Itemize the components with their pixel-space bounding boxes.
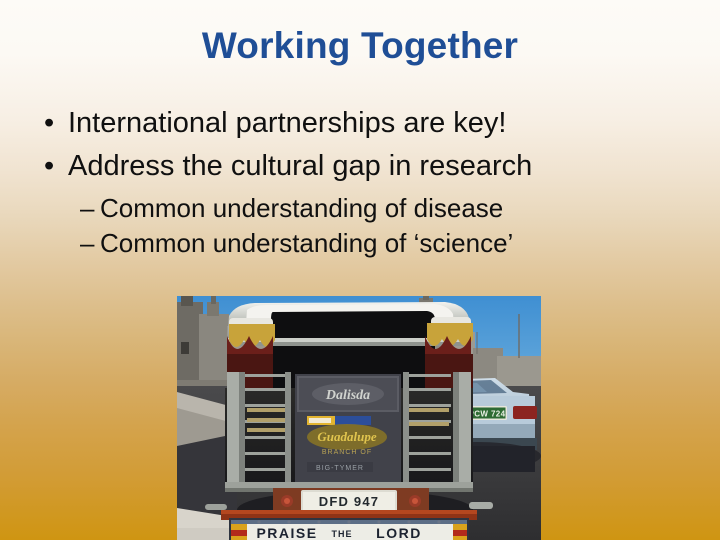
bullet-marker-icon: • [44,107,54,139]
slide-body: • International partnerships are key! • … [0,107,720,263]
list-item-label: International partnerships are key! [68,107,506,139]
svg-text:Dalisda: Dalisda [325,388,370,403]
svg-text:LORD: LORD [376,525,422,540]
svg-text:PCW 724: PCW 724 [468,410,505,419]
bullet-marker-icon: • [44,150,54,182]
svg-text:THE: THE [332,529,353,539]
sub-list: – Common understanding of disease – Comm… [0,194,720,258]
jeepney-traffic-photo: PCW 724 [177,296,541,540]
presentation-slide: Working Together • International partner… [0,0,720,540]
svg-text:PRAISE: PRAISE [256,525,317,540]
svg-text:Guadalupe: Guadalupe [317,429,376,444]
page-title: Working Together [0,26,720,66]
list-item: • International partnerships are key! [0,107,720,139]
sub-list-item: – Common understanding of disease [0,194,720,224]
sub-list-item: – Common understanding of ‘science’ [0,229,720,259]
dash-marker-icon: – [80,194,94,224]
svg-text:DFD 947: DFD 947 [319,494,379,509]
svg-text:BIG-TYMER: BIG-TYMER [316,465,364,472]
svg-text:BRANCH OF: BRANCH OF [322,449,372,456]
sub-list-item-label: Common understanding of ‘science’ [100,228,513,258]
dash-marker-icon: – [80,229,94,259]
list-item-label: Address the cultural gap in research [68,150,532,182]
list-item: • Address the cultural gap in research [0,150,720,182]
sub-list-item-label: Common understanding of disease [100,193,503,223]
